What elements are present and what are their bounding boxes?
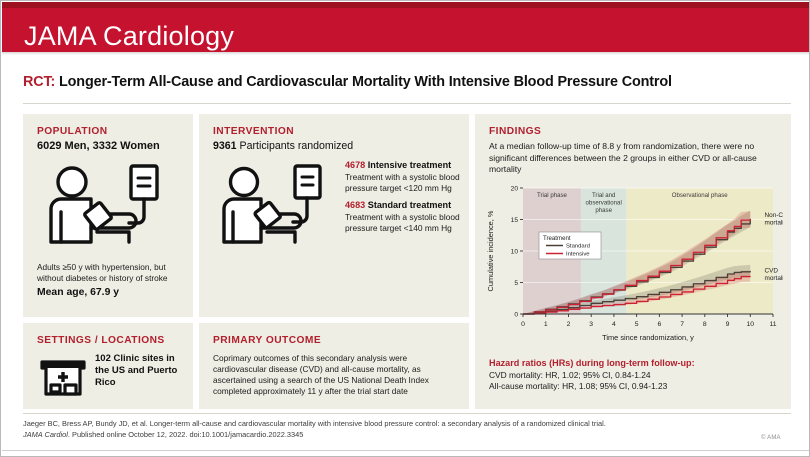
primary-outcome-text: Coprimary outcomes of this secondary ana… [213, 353, 459, 397]
settings-text: 102 Clinic sites in the US and Puerto Ri… [95, 353, 189, 389]
copyright-notice: © AMA [761, 435, 781, 441]
intervention-label: INTERVENTION [213, 126, 294, 137]
intervention-lead: 9361 Participants randomized [213, 140, 463, 153]
population-lead: 6029 Men, 3332 Women [37, 140, 187, 154]
population-mean-age: Mean age, 67.9 y [37, 287, 187, 298]
y-tick-label: 5 [514, 280, 518, 287]
title-divider [23, 103, 791, 104]
y-tick-label: 20 [511, 185, 519, 192]
x-axis-title: Time since randomization, y [602, 333, 694, 342]
x-tick-label: 3 [589, 321, 593, 328]
x-tick-label: 2 [567, 321, 571, 328]
legend-title: Treatment [543, 235, 571, 242]
legend-label: Intensive [566, 252, 590, 258]
hazard-ratio-heading: Hazard ratios (HRs) during long-term fol… [489, 358, 785, 370]
x-tick-label: 10 [746, 321, 754, 328]
hazard-ratio-cvd: CVD mortality: HR, 1.02; 95% CI, 0.84-1.… [489, 370, 785, 381]
phase-label: Trial and [592, 192, 615, 199]
study-title-text: Longer-Term All-Cause and Cardiovascular… [59, 74, 672, 90]
intervention-arm: 4678 Intensive treatment Treatment with … [345, 160, 461, 193]
settings-panel: SETTINGS / LOCATIONS 102 Clinic sites in… [23, 323, 193, 409]
arm-heading: 4683 Standard treatment [345, 200, 461, 211]
arm-count: 4678 [345, 160, 365, 170]
citation-line-1: Jaeger BC, Bress AP, Bundy JD, et al. Lo… [23, 419, 606, 428]
curve-annotation: CVD [765, 268, 779, 275]
intervention-lead-text: Participants randomized [240, 140, 354, 152]
citation-journal: JAMA Cardiol [23, 430, 68, 439]
population-note: Adults ≥50 y with hypertension, but with… [37, 262, 185, 284]
settings-label: SETTINGS / LOCATIONS [37, 335, 165, 346]
patient-blood-pressure-icon [39, 162, 179, 254]
curve-annotation: mortality [765, 275, 783, 282]
findings-panel: FINDINGS At a median follow-up time of 8… [475, 114, 791, 409]
hazard-ratio-allcause: All-cause mortality: HR, 1.08; 95% CI, 0… [489, 381, 785, 392]
intervention-panel: INTERVENTION 9361 Participants randomize… [199, 114, 469, 317]
cumulative-incidence-chart: Trial phaseTrial andobservationalphaseOb… [483, 182, 783, 350]
y-tick-label: 10 [511, 248, 519, 255]
population-panel: POPULATION 6029 Men, 3332 Women Adults ≥… [23, 114, 193, 317]
curve-annotation: Non-CVD [765, 212, 783, 219]
header-shadow [2, 52, 810, 55]
phase-label: phase [595, 207, 612, 214]
y-axis-title: Cumulative incidence, % [486, 210, 495, 291]
journal-title: JAMA Cardiology [24, 21, 234, 52]
arm-description: Treatment with a systolic blood pressure… [345, 172, 461, 194]
findings-lead: At a median follow-up time of 8.8 y from… [489, 141, 779, 176]
x-tick-label: 9 [726, 321, 730, 328]
y-tick-label: 15 [511, 217, 519, 224]
population-label: POPULATION [37, 126, 108, 137]
x-tick-label: 11 [769, 321, 776, 328]
citation: Jaeger BC, Bress AP, Bundy JD, et al. Lo… [23, 419, 743, 440]
x-tick-label: 6 [657, 321, 661, 328]
citation-line-2: . Published online October 12, 2022. doi… [68, 430, 303, 439]
arm-name: Standard treatment [368, 200, 451, 210]
x-tick-label: 7 [680, 321, 684, 328]
arm-count: 4683 [345, 200, 365, 210]
phase-label: Observational phase [672, 192, 729, 199]
clinic-building-icon [39, 353, 87, 397]
phase-label: Trial phase [537, 192, 568, 199]
intervention-lead-number: 9361 [213, 140, 237, 152]
arm-description: Treatment with a systolic blood pressure… [345, 212, 461, 234]
primary-outcome-label: PRIMARY OUTCOME [213, 335, 321, 346]
hazard-ratios-block: Hazard ratios (HRs) during long-term fol… [489, 358, 785, 393]
x-tick-label: 8 [703, 321, 707, 328]
x-tick-label: 1 [544, 321, 548, 328]
patient-blood-pressure-icon [215, 162, 337, 254]
study-title: RCT: Longer-Term All-Cause and Cardiovas… [23, 74, 793, 90]
legend-label: Standard [566, 244, 590, 250]
intervention-arm: 4683 Standard treatment Treatment with a… [345, 200, 461, 233]
y-tick-label: 0 [514, 311, 518, 318]
x-tick-label: 0 [521, 321, 525, 328]
page-bottom-rule [2, 450, 810, 451]
arm-name: Intensive treatment [368, 160, 451, 170]
chart-svg: Trial phaseTrial andobservationalphaseOb… [483, 182, 783, 350]
footer-divider [23, 413, 791, 414]
x-tick-label: 5 [635, 321, 639, 328]
primary-outcome-panel: PRIMARY OUTCOME Coprimary outcomes of th… [199, 323, 469, 409]
intervention-arms: 4678 Intensive treatment Treatment with … [345, 160, 461, 241]
curve-annotation: mortality [765, 220, 783, 227]
phase-label: observational [586, 200, 622, 207]
findings-label: FINDINGS [489, 126, 541, 137]
x-tick-label: 4 [612, 321, 616, 328]
arm-heading: 4678 Intensive treatment [345, 160, 461, 171]
study-type-label: RCT: [23, 74, 55, 90]
journal-header-bar: JAMA Cardiology [2, 8, 810, 52]
visual-abstract-page: JAMA Cardiology RCT: Longer-Term All-Cau… [0, 0, 810, 457]
